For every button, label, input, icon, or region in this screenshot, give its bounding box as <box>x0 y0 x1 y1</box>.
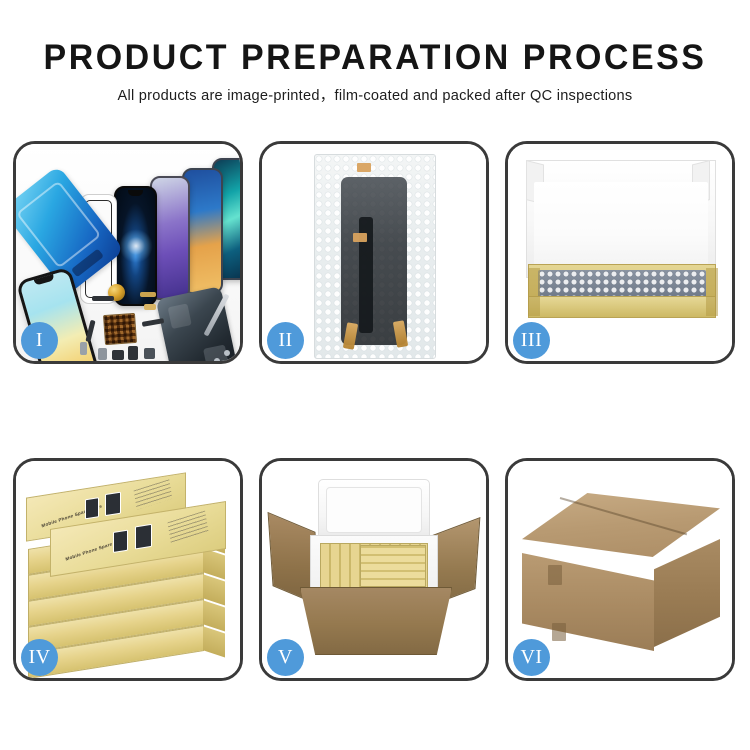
carton-tape-lower <box>552 623 566 641</box>
small-part-8 <box>128 346 138 360</box>
carton-right-face <box>654 539 720 647</box>
chip-array-part <box>103 313 137 345</box>
small-part-1 <box>92 296 114 301</box>
box-stack: Mobile Phone Spare Parts Mobile Phone Sp… <box>24 479 236 667</box>
tape-strip-mid <box>353 233 367 242</box>
step-badge-5: V <box>267 639 304 676</box>
box-text-lines-front <box>168 511 209 544</box>
tray-edge-right <box>706 268 718 316</box>
process-step-4: Mobile Phone Spare Parts Mobile Phone Sp… <box>13 458 243 681</box>
small-part-4 <box>85 320 95 343</box>
box-text-lines-back <box>134 479 173 510</box>
process-step-1: I <box>13 141 243 364</box>
small-part-10 <box>80 342 87 355</box>
step-badge-4: IV <box>21 639 58 676</box>
small-part-11 <box>224 350 230 356</box>
small-part-12 <box>214 358 220 361</box>
step-badge-6: VI <box>513 639 550 676</box>
box-window-back-2 <box>105 492 121 517</box>
yellow-box-front-edge <box>528 296 716 318</box>
small-part-3 <box>144 304 156 310</box>
page-title: PRODUCT PREPARATION PROCESS <box>11 38 739 78</box>
tray-edge-left <box>528 268 540 316</box>
process-step-5: V <box>259 458 489 681</box>
carton-top-face <box>522 493 720 557</box>
styrofoam-lid <box>318 479 430 541</box>
step-badge-3: III <box>513 322 550 359</box>
step-badge-1: I <box>21 322 58 359</box>
small-part-6 <box>98 348 107 360</box>
small-part-9 <box>144 348 155 359</box>
wrapped-lcd-screen <box>341 177 407 345</box>
box-window-front-1 <box>113 530 128 553</box>
tape-strip-top <box>357 163 371 172</box>
carton-body <box>300 587 452 655</box>
white-foam-sheet <box>534 182 708 270</box>
process-step-2: II <box>259 141 489 364</box>
box-window-front-2 <box>135 524 152 550</box>
product-preparation-infographic: PRODUCT PREPARATION PROCESS All products… <box>0 0 750 750</box>
box-window-back-1 <box>85 497 99 519</box>
bubble-wrap-bag <box>314 154 436 359</box>
header: PRODUCT PREPARATION PROCESS All products… <box>0 38 750 105</box>
process-step-3: III <box>505 141 735 364</box>
step-badge-2: II <box>267 322 304 359</box>
yellow-boxes-row-2 <box>360 545 426 587</box>
page-subtitle: All products are image-printed，film-coat… <box>0 87 750 105</box>
process-step-grid: I II <box>13 141 737 681</box>
small-part-7 <box>112 350 124 360</box>
small-part-2 <box>140 292 156 297</box>
carton-tape-upper <box>548 565 562 585</box>
process-step-6: VI <box>505 458 735 681</box>
carton-left-face <box>522 553 654 651</box>
